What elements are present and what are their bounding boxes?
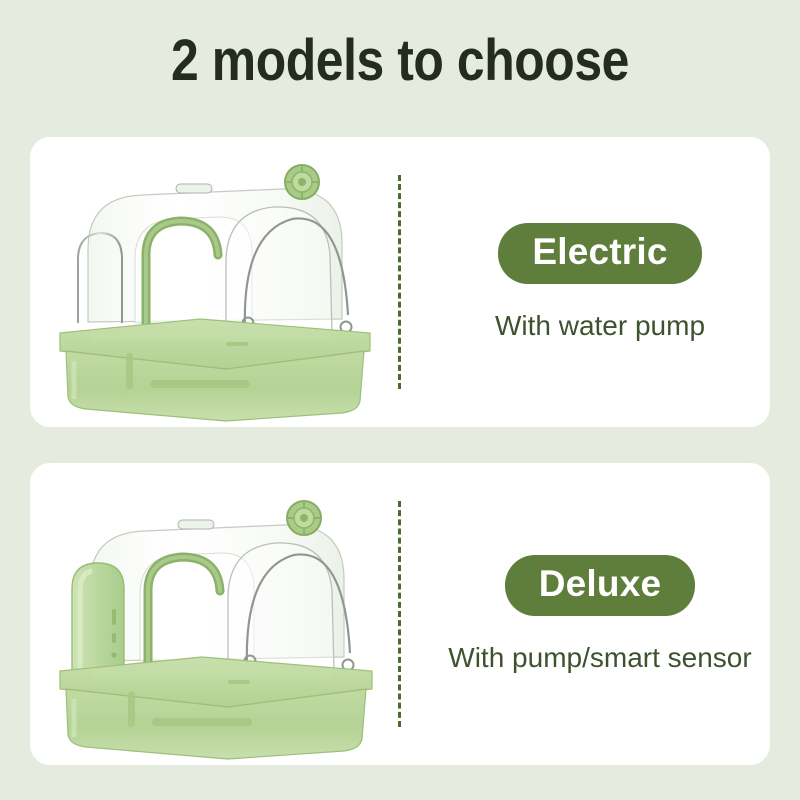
badge-deluxe[interactable]: Deluxe [505, 555, 696, 616]
tray-slot [226, 342, 248, 346]
caption-deluxe: With pump/smart sensor [448, 642, 751, 674]
base-inner-post [126, 353, 133, 389]
model-card-deluxe[interactable]: Deluxe With pump/smart sensor [30, 463, 770, 765]
base-drain-bar [152, 718, 252, 726]
top-latch-clip [176, 184, 212, 193]
tray-slot [228, 680, 250, 684]
base-drain-bar [150, 380, 250, 388]
card-divider-electric [398, 175, 401, 389]
badge-electric[interactable]: Electric [498, 223, 701, 284]
tray-rim-top [90, 330, 330, 341]
pulley-knob-icon [285, 165, 319, 199]
caption-electric: With water pump [495, 310, 705, 342]
base-inner-post [128, 691, 135, 727]
tray-rim-top [92, 668, 332, 679]
model-card-electric[interactable]: Electric With water pump [30, 137, 770, 427]
card-divider-deluxe [398, 501, 401, 727]
product-image-deluxe [30, 463, 398, 765]
product-image-electric [30, 137, 398, 427]
promo-page: 2 models to choose [0, 0, 800, 800]
dome-front-flap [228, 543, 334, 671]
smart-sensor-module [72, 563, 124, 673]
page-title: 2 models to choose [56, 26, 744, 96]
top-latch-clip [178, 520, 214, 529]
model-info-deluxe: Deluxe With pump/smart sensor [430, 463, 770, 765]
pulley-knob-icon [287, 501, 321, 535]
model-info-electric: Electric With water pump [430, 137, 770, 427]
